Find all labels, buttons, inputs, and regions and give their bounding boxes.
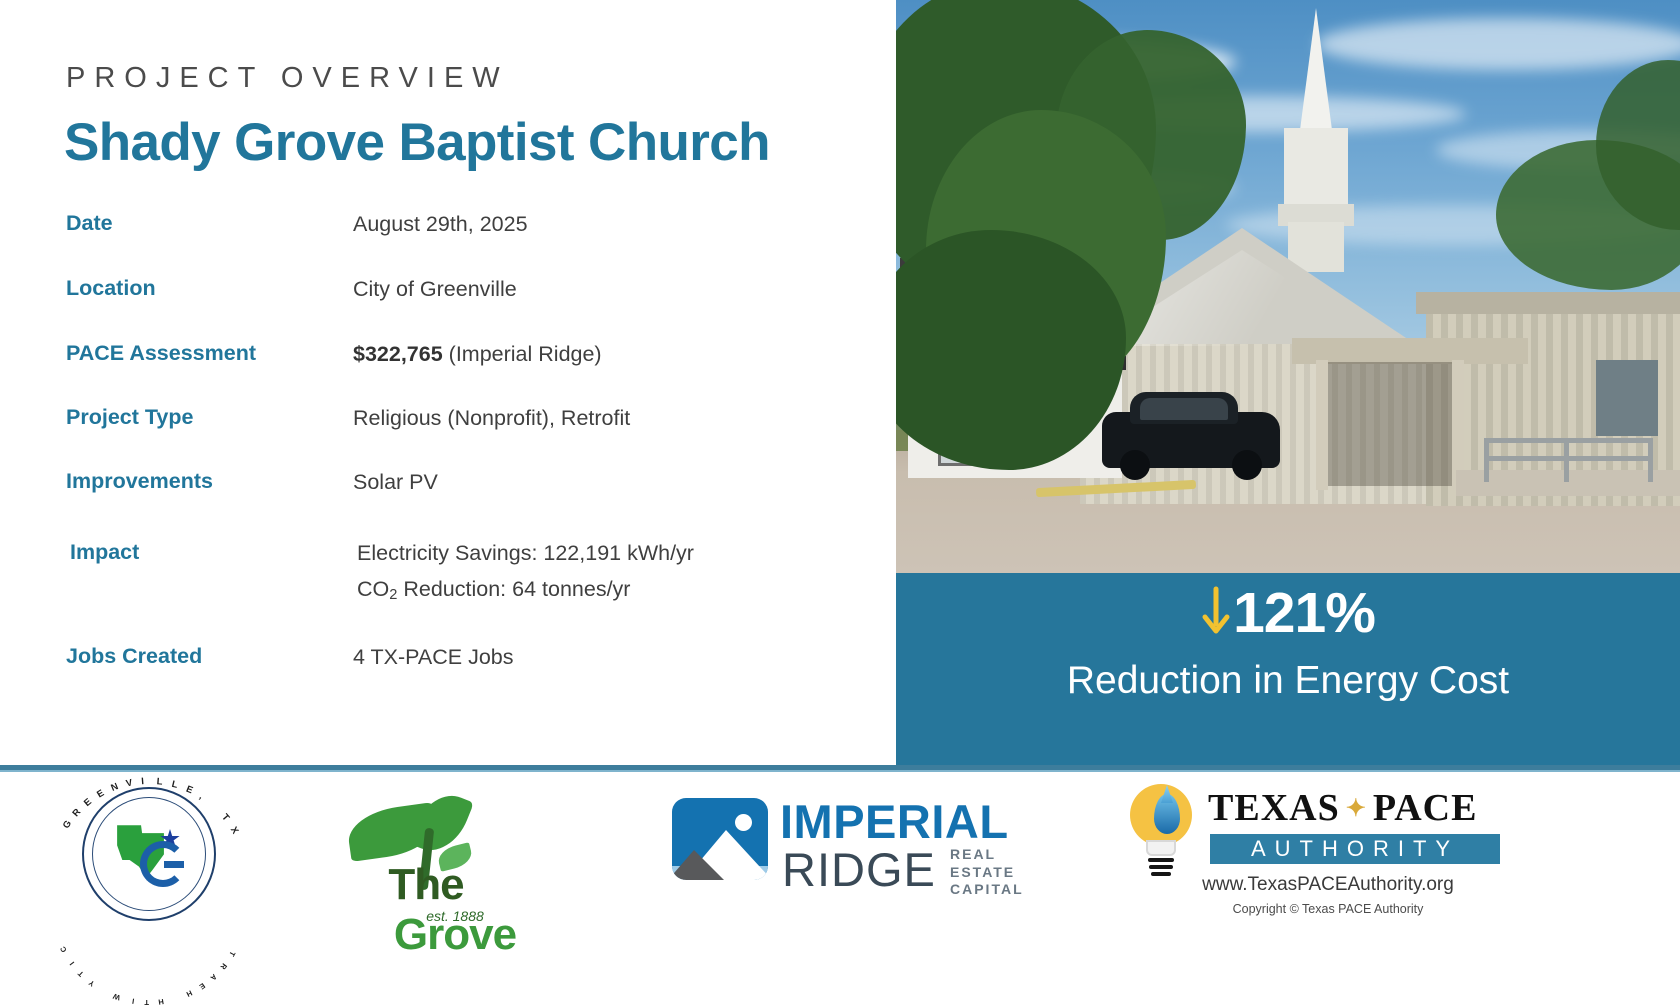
seal-char: T xyxy=(144,998,149,1007)
seal-char: W xyxy=(111,991,121,1002)
the-grove-logo: TheGrove est. 1888 xyxy=(330,790,580,920)
detail-label-impact: Impact xyxy=(66,539,357,566)
water-drop-icon xyxy=(1154,794,1180,834)
cloud xyxy=(1316,18,1680,70)
seal-char: V xyxy=(125,777,134,789)
eyebrow-label: PROJECT OVERVIEW xyxy=(66,62,509,95)
seal-char: I xyxy=(67,960,76,967)
pace-amount: $322,765 xyxy=(353,342,443,366)
texas-pace-wordmark: TEXAS✦PACE xyxy=(1208,786,1477,830)
handrail-post xyxy=(1648,438,1653,482)
detail-label-location: Location xyxy=(66,275,353,302)
detail-value-pace-assessment: $322,765 (Imperial Ridge) xyxy=(353,340,602,369)
details-list: Date August 29th, 2025 Location City of … xyxy=(66,210,856,672)
word-texas: TEXAS xyxy=(1208,787,1340,829)
imperial-ridge-logo: IMPERIAL RIDGE REAL ESTATE CAPITAL xyxy=(672,790,1042,918)
detail-value-location: City of Greenville xyxy=(353,275,517,304)
handrail-post xyxy=(1564,438,1569,482)
steeple-tower xyxy=(1284,128,1348,206)
bulb-base-ring xyxy=(1149,865,1173,869)
detail-label-jobs-created: Jobs Created xyxy=(66,643,353,670)
steeple-spire xyxy=(1300,8,1332,130)
wing-door xyxy=(1596,360,1658,436)
bulb-neck xyxy=(1146,840,1176,856)
seal-char: E xyxy=(197,981,207,991)
project-details-panel: PROJECT OVERVIEW Shady Grove Baptist Chu… xyxy=(0,0,896,765)
page-title: Shady Grove Baptist Church xyxy=(64,112,770,173)
porch-shadow xyxy=(1328,362,1452,486)
stat-percent-value: 121% xyxy=(1233,581,1375,645)
seal-char: T xyxy=(76,969,86,979)
seal-char: , xyxy=(197,791,205,802)
impact-electricity-savings: Electricity Savings: 122,191 kWh/yr xyxy=(357,539,694,568)
detail-value-improvements: Solar PV xyxy=(353,468,438,497)
seal-char: T xyxy=(219,812,231,824)
imperial-mountain-icon xyxy=(672,798,768,880)
detail-row-location: Location City of Greenville xyxy=(66,275,856,304)
detail-value-jobs-created: 4 TX-PACE Jobs xyxy=(353,643,514,672)
seal-char: I xyxy=(141,776,145,787)
ridge-wordmark: RIDGE xyxy=(782,842,936,897)
detail-row-date: Date August 29th, 2025 xyxy=(66,210,856,239)
texas-pace-url[interactable]: www.TexasPACEAuthority.org xyxy=(1118,874,1538,896)
letter-g-bar xyxy=(164,861,184,868)
seal-char: R xyxy=(70,806,83,819)
seal-char: R xyxy=(218,962,229,972)
detail-label-date: Date xyxy=(66,210,353,237)
moon-icon xyxy=(735,814,752,831)
stat-banner: 121% Reduction in Energy Cost xyxy=(896,573,1680,765)
detail-value-date: August 29th, 2025 xyxy=(353,210,528,239)
detail-row-improvements: Improvements Solar PV xyxy=(66,468,856,497)
detail-row-jobs-created: Jobs Created 4 TX-PACE Jobs xyxy=(66,643,856,672)
wing-roof-edge xyxy=(1416,292,1680,314)
seal-char: E xyxy=(95,788,106,801)
seal-char: C xyxy=(58,945,69,954)
porch-post xyxy=(1316,360,1328,490)
detail-value-project-type: Religious (Nonprofit), Retrofit xyxy=(353,404,630,433)
stat-caption: Reduction in Energy Cost xyxy=(896,659,1680,703)
detail-label-pace-assessment: PACE Assessment xyxy=(66,340,353,367)
detail-row-project-type: Project Type Religious (Nonprofit), Retr… xyxy=(66,404,856,433)
co2-prefix: CO xyxy=(357,577,389,601)
texas-pace-authority-logo: TEXAS✦PACE AUTHORITY www.TexasPACEAuthor… xyxy=(1124,782,1544,932)
project-overview-slide: PROJECT OVERVIEW Shady Grove Baptist Chu… xyxy=(0,0,1680,945)
seal-char: L xyxy=(171,779,180,791)
handrail-post xyxy=(1484,438,1489,482)
seal-char: X xyxy=(228,825,241,837)
arrow-down-icon xyxy=(1201,586,1231,644)
seal-char: H xyxy=(157,997,164,1007)
pace-lender: (Imperial Ridge) xyxy=(443,342,602,366)
seal-char: N xyxy=(110,781,121,794)
seal-char: G xyxy=(61,818,74,830)
word-pace: PACE xyxy=(1373,787,1478,829)
copyright-text: Copyright © Texas PACE Authority xyxy=(1118,902,1538,916)
seal-char: H xyxy=(184,988,193,999)
seal-char: I xyxy=(131,997,135,1006)
detail-label-project-type: Project Type xyxy=(66,404,353,431)
seal-char: T xyxy=(227,950,237,959)
bulb-base-ring xyxy=(1148,858,1174,862)
car-window xyxy=(1140,398,1228,420)
imperial-tagline: REAL ESTATE CAPITAL xyxy=(950,846,1024,899)
top-section: PROJECT OVERVIEW Shady Grove Baptist Chu… xyxy=(0,0,1680,765)
photo-and-stat-panel: 121% Reduction in Energy Cost xyxy=(896,0,1680,765)
detail-label-improvements: Improvements xyxy=(66,468,353,495)
lightbulb-icon xyxy=(1130,784,1192,846)
impact-co2-reduction: CO2 Reduction: 64 tonnes/yr xyxy=(357,575,694,606)
seal-char: Y xyxy=(87,978,97,988)
detail-value-impact: Electricity Savings: 122,191 kWh/yr CO2 … xyxy=(357,539,694,606)
star-icon: ✦ xyxy=(1346,794,1367,823)
grove-established: est. 1888 xyxy=(330,908,580,924)
tagline-line-1: REAL xyxy=(950,846,1024,864)
detail-row-impact: Impact Electricity Savings: 122,191 kWh/… xyxy=(66,539,856,606)
car-wheel xyxy=(1232,450,1262,480)
co2-suffix: Reduction: 64 tonnes/yr xyxy=(397,577,630,601)
footer-logo-bar: GREENVILLE, TX CITY WITH HEART TheGrove … xyxy=(0,772,1680,945)
mountain-peak-gray xyxy=(672,850,724,880)
imperial-wordmark: IMPERIAL xyxy=(780,794,1009,849)
tagline-line-3: CAPITAL xyxy=(950,881,1024,899)
tagline-line-2: ESTATE xyxy=(950,864,1024,882)
seal-char: E xyxy=(82,796,94,809)
project-photo xyxy=(896,0,1680,573)
seal-char: E xyxy=(184,784,194,797)
authority-wordmark: AUTHORITY xyxy=(1210,834,1500,864)
greenville-city-seal-logo: GREENVILLE, TX CITY WITH HEART xyxy=(82,787,216,921)
stat-percent-line: 121% xyxy=(896,585,1680,644)
grove-word-the: The xyxy=(388,860,463,909)
seal-char: L xyxy=(156,776,163,787)
seal-char: A xyxy=(208,972,218,983)
detail-row-pace-assessment: PACE Assessment $322,765 (Imperial Ridge… xyxy=(66,340,856,369)
car-wheel xyxy=(1120,450,1150,480)
